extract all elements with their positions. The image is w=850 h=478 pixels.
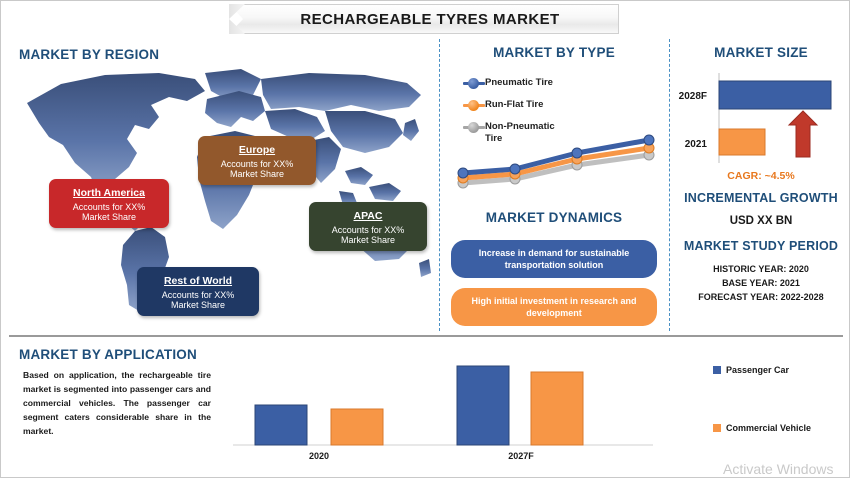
market-size-bar-chart: 2028F 2021 [677,69,849,169]
bar-2027f-commercial-vehicle[interactable] [531,372,583,445]
region-share-line2: Market Share [56,212,162,223]
legend-label: Pneumatic Tire [485,77,553,89]
legend-swatch-icon [713,424,721,432]
region-share-line1: Accounts for XX% [316,225,420,236]
market-driver-text: Increase in demand for sustainable trans… [461,247,647,271]
market-by-type-panel: MARKET BY TYPE Pneumatic Tire Run-Flat T… [441,39,667,199]
market-size-panel: MARKET SIZE 2028F 2021 CAGR: ~4.5% INCRE… [671,39,850,331]
region-share-line2: Market Share [144,300,252,311]
market-by-application-description: Based on application, the rechargeable t… [23,369,211,439]
legend-item-commercial-vehicle[interactable]: Commercial Vehicle [713,423,811,433]
market-dynamics-heading: MARKET DYNAMICS [441,210,667,225]
market-by-application-heading: MARKET BY APPLICATION [19,347,197,362]
line-chart-svg [449,127,661,193]
growth-arrow-icon [789,111,817,157]
market-by-region-heading: MARKET BY REGION [19,47,159,62]
bar-2028f[interactable] [719,81,831,109]
bar-2027f-passenger-car[interactable] [457,366,509,445]
legend-label: Commercial Vehicle [726,423,811,433]
market-size-svg: 2028F 2021 [677,69,849,169]
market-driver-box[interactable]: Increase in demand for sustainable trans… [451,240,657,278]
market-study-period-heading: MARKET STUDY PERIOD [671,239,850,253]
market-by-region-panel: MARKET BY REGION [1,39,439,331]
category-label-2027f: 2027F [508,451,534,461]
market-size-heading: MARKET SIZE [671,45,850,60]
bar-label-2021: 2021 [685,139,708,150]
region-label-north-america[interactable]: North America Accounts for XX% Market Sh… [49,179,169,228]
region-name: Europe [239,144,275,156]
region-name: North America [73,187,145,199]
incremental-growth-heading: INCREMENTAL GROWTH [671,191,850,205]
legend-marker-icon [463,100,485,111]
cagr-value: CAGR: ~4.5% [671,170,850,182]
forecast-year: FORECAST YEAR: 2022-2028 [671,291,850,305]
legend-label: Run-Flat Tire [485,99,543,111]
market-dynamics-panel: MARKET DYNAMICS Increase in demand for s… [441,206,667,331]
region-share-line1: Accounts for XX% [144,290,252,301]
legend-label: Passenger Car [726,365,789,375]
legend-item-passenger-car[interactable]: Passenger Car [713,365,811,375]
page-title-banner: RECHARGEABLE TYRES MARKET [229,4,619,34]
incremental-growth-value: USD XX BN [671,215,850,227]
page-title: RECHARGEABLE TYRES MARKET [288,11,559,28]
region-label-apac[interactable]: APAC Accounts for XX% Market Share [309,202,427,251]
historic-year: HISTORIC YEAR: 2020 [671,263,850,277]
bar-2020-commercial-vehicle[interactable] [331,409,383,445]
bar-label-2028f: 2028F [679,91,707,102]
legend-swatch-icon [713,366,721,374]
legend-marker-icon [463,78,485,89]
market-by-application-panel: MARKET BY APPLICATION Based on applicati… [1,339,850,478]
legend-item-pneumatic-tire[interactable]: Pneumatic Tire [463,77,571,89]
region-name: APAC [354,210,383,222]
divider-horizontal [9,335,843,337]
region-share-line1: Accounts for XX% [56,202,162,213]
base-year: BASE YEAR: 2021 [671,277,850,291]
category-label-2020: 2020 [309,451,329,461]
infographic-page: RECHARGEABLE TYRES MARKET MARKET BY REGI… [0,0,850,478]
legend-item-run-flat-tire[interactable]: Run-Flat Tire [463,99,571,111]
market-by-application-bar-chart: 2020 2027F [233,353,653,463]
application-bar-chart-svg: 2020 2027F [233,353,653,463]
region-label-europe[interactable]: Europe Accounts for XX% Market Share [198,136,316,185]
bar-2021[interactable] [719,129,765,155]
market-by-type-line-chart [449,127,661,193]
market-restraint-text: High initial investment in research and … [461,295,647,319]
region-share-line2: Market Share [316,235,420,246]
region-label-rest-of-world[interactable]: Rest of World Accounts for XX% Market Sh… [137,267,259,316]
bar-2020-passenger-car[interactable] [255,405,307,445]
market-study-period-details: HISTORIC YEAR: 2020 BASE YEAR: 2021 FORE… [671,263,850,305]
divider-vertical-right [669,39,670,331]
market-restraint-box[interactable]: High initial investment in research and … [451,288,657,326]
region-share-line1: Accounts for XX% [205,159,309,170]
series-line-run-flat [463,148,649,178]
activate-windows-watermark: Activate Windows [723,461,849,478]
region-name: Rest of World [164,275,232,287]
market-by-type-heading: MARKET BY TYPE [441,45,667,60]
region-share-line2: Market Share [205,169,309,180]
divider-vertical-left [439,39,440,331]
